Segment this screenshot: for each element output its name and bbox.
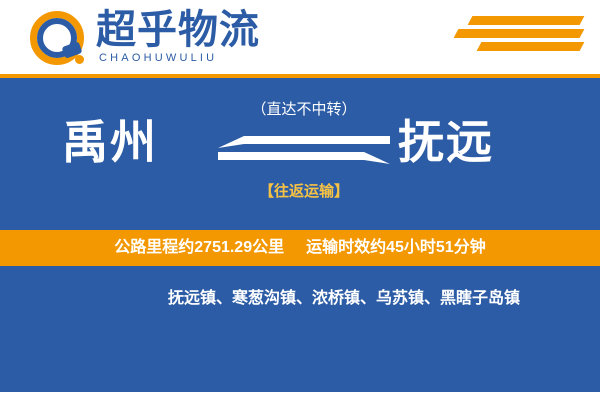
brand-name-cn: 超乎物流 (96, 8, 260, 52)
two-way-arrows-icon (218, 134, 390, 172)
stats-bar: 公路里程约2751.29公里 运输时效约45小时51分钟 (0, 230, 600, 266)
coverage-areas-text: 抚远镇、寒葱沟镇、浓桥镇、乌苏镇、黑瞎子岛镇 (168, 286, 580, 312)
route-note-direct: （直达不中转） (246, 100, 362, 120)
logistics-route-poster: 超乎物流 CHAOHUWULIU 禹州 （直达不中转） 【往返运输】 抚远 公路… (0, 0, 600, 400)
origin-city: 禹州 (62, 114, 158, 170)
brand-name-en: CHAOHUWULIU (99, 52, 217, 65)
destination-city: 抚远 (398, 114, 494, 170)
coverage-section: 抚远镇、寒葱沟镇、浓桥镇、乌苏镇、黑瞎子岛镇 (0, 266, 600, 400)
header: 超乎物流 CHAOHUWULIU (0, 0, 600, 74)
bottom-divider (0, 392, 600, 400)
speed-line-1 (468, 16, 585, 25)
speed-line-2 (454, 29, 585, 38)
logo-dot (75, 55, 84, 64)
speed-line-3 (477, 42, 585, 51)
duration-stat: 运输时效约45小时51分钟 (306, 238, 486, 258)
circle-q-logo-icon (30, 11, 84, 65)
route-section: 禹州 （直达不中转） 【往返运输】 抚远 (0, 78, 600, 230)
distance-stat: 公路里程约2751.29公里 (114, 238, 284, 258)
route-note-roundtrip: 【往返运输】 (238, 182, 370, 202)
speed-lines-icon (452, 16, 582, 60)
